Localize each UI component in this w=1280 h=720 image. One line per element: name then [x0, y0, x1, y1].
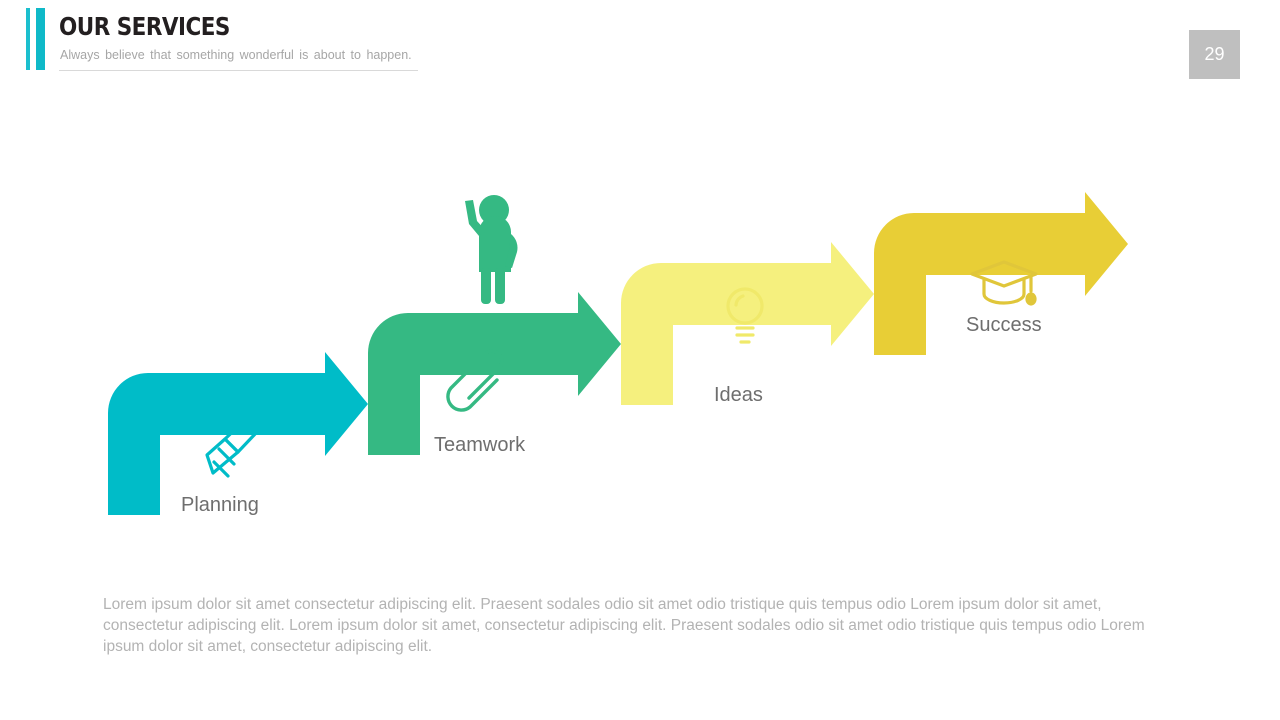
body-paragraph: Lorem ipsum dolor sit amet consectetur a… [103, 594, 1158, 657]
step-label-planning: Planning [181, 494, 259, 517]
process-step-ideas[interactable] [621, 242, 874, 405]
process-step-teamwork[interactable] [368, 292, 621, 455]
step-label-teamwork: Teamwork [434, 434, 525, 457]
process-diagram: Planning Teamwork Ideas Success [0, 0, 1280, 600]
process-step-planning[interactable] [108, 352, 368, 515]
step-label-ideas: Ideas [714, 384, 763, 407]
arrow-shape-planning [108, 352, 368, 515]
step-label-success: Success [966, 314, 1042, 337]
person-raised-hand-icon [465, 195, 517, 304]
